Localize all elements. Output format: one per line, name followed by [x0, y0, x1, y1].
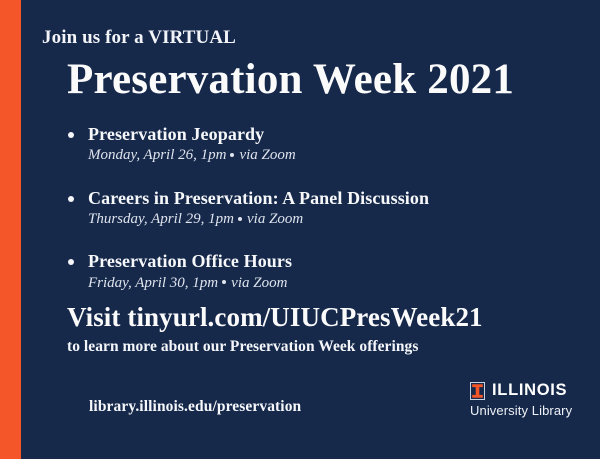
separator-dot-icon: [230, 153, 234, 157]
event-detail: Thursday, April 29, 1pmvia Zoom: [88, 210, 584, 230]
logo-unit-name: University Library: [470, 404, 572, 418]
list-item: Preservation Jeopardy Monday, April 26, …: [64, 124, 584, 166]
event-detail: Friday, April 30, 1pmvia Zoom: [88, 274, 584, 294]
separator-dot-icon: [222, 280, 226, 284]
list-item: Preservation Office Hours Friday, April …: [64, 251, 584, 293]
event-platform: via Zoom: [231, 275, 287, 291]
event-title: Preservation Jeopardy: [88, 124, 584, 145]
cta-url-text: Visit tinyurl.com/UIUCPresWeek21: [67, 303, 587, 333]
bullet-icon: [68, 196, 74, 202]
logo-lockup-row: ILLINOIS: [470, 381, 572, 400]
call-to-action: Visit tinyurl.com/UIUCPresWeek21 to lear…: [67, 303, 587, 356]
event-title: Careers in Preservation: A Panel Discuss…: [88, 188, 584, 209]
event-detail: Monday, April 26, 1pmvia Zoom: [88, 146, 584, 166]
event-day: Thursday, April 29, 1pm: [88, 211, 234, 227]
kicker-text: Join us for a VIRTUAL: [42, 27, 236, 49]
separator-dot-icon: [238, 217, 242, 221]
block-i-icon: [470, 382, 485, 400]
bullet-icon: [68, 132, 74, 138]
footer-url-text: library.illinois.edu/preservation: [89, 398, 301, 416]
preservation-week-poster: Join us for a VIRTUAL Preservation Week …: [0, 0, 600, 459]
left-accent-stripe: [0, 0, 21, 459]
bullet-icon: [68, 259, 74, 265]
event-platform: via Zoom: [239, 147, 295, 163]
illinois-university-library-logo: ILLINOIS University Library: [470, 381, 572, 418]
event-day: Friday, April 30, 1pm: [88, 275, 218, 291]
event-platform: via Zoom: [247, 211, 303, 227]
event-list: Preservation Jeopardy Monday, April 26, …: [64, 124, 584, 293]
illinois-wordmark: ILLINOIS: [492, 382, 567, 399]
page-title: Preservation Week 2021: [67, 57, 514, 103]
cta-subtext: to learn more about our Preservation Wee…: [67, 338, 587, 356]
poster-content: Join us for a VIRTUAL Preservation Week …: [21, 0, 600, 459]
event-day: Monday, April 26, 1pm: [88, 147, 226, 163]
event-title: Preservation Office Hours: [88, 251, 584, 272]
list-item: Careers in Preservation: A Panel Discuss…: [64, 188, 584, 230]
